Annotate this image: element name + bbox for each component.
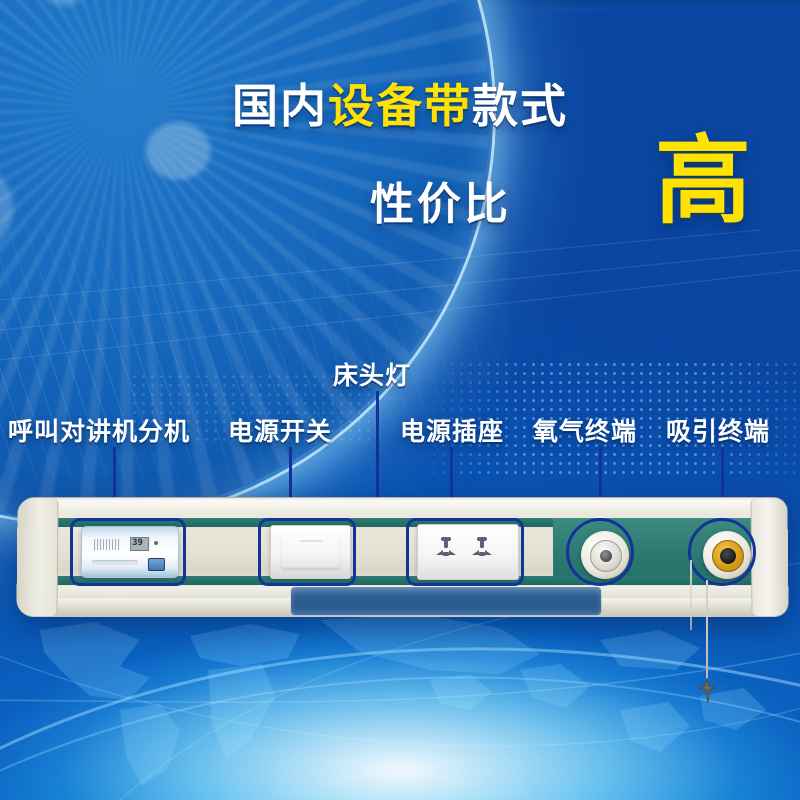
bar-end-cap-left <box>16 498 58 616</box>
pull-cord-icon[interactable] <box>706 580 708 680</box>
highlight-suction <box>688 518 756 586</box>
bar-end-cap-right <box>751 498 789 616</box>
highlight-switch <box>258 518 356 586</box>
callout-label-intercom: 呼叫对讲机分机 <box>8 412 190 448</box>
promo-banner: 国内设备带款式 性价比 高 呼叫对讲机分机 电源开关 床头灯 电源插座 氧气终端… <box>0 0 800 800</box>
pull-cord-handle-icon <box>698 678 716 704</box>
bar-top-edge <box>21 500 784 516</box>
callout-label-suction: 吸引终端 <box>666 412 770 448</box>
callout-label-bedlamp: 床头灯 <box>333 356 411 392</box>
callout-label-socket: 电源插座 <box>400 412 504 448</box>
highlight-socket <box>406 518 524 586</box>
highlight-oxygen <box>566 518 634 586</box>
callout-label-oxygen: 氧气终端 <box>533 412 637 448</box>
bed-lamp-diffuser[interactable] <box>291 587 601 615</box>
highlight-intercom <box>70 518 186 586</box>
callout-label-switch: 电源开关 <box>228 412 332 448</box>
pull-cord-secondary <box>690 560 692 630</box>
